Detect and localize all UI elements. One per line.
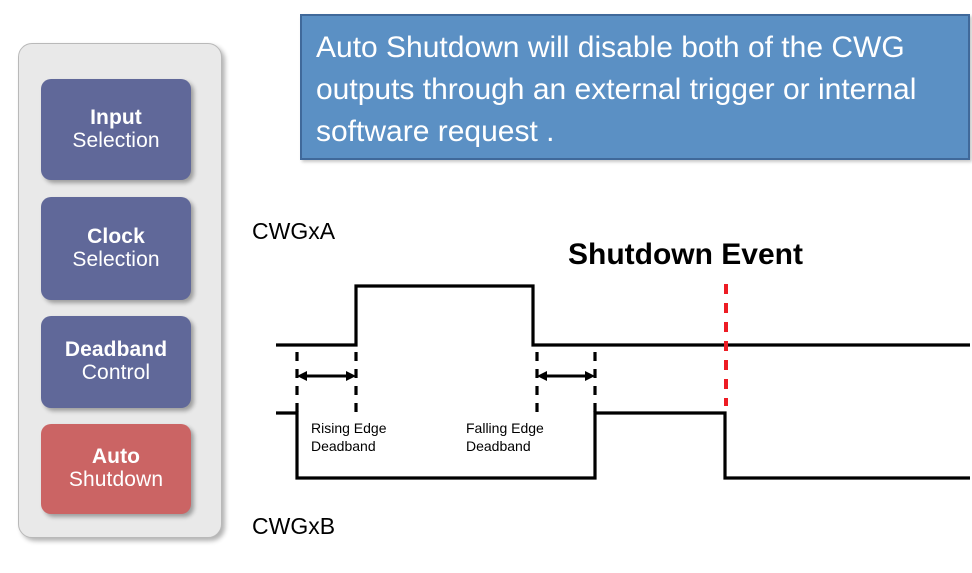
sidebar-item-clock-selection-subtitle: Selection <box>72 249 159 272</box>
rising-edge-deadband-label: Rising Edge Deadband <box>311 420 387 456</box>
sidebar-panel: Input Selection Clock Selection Deadband… <box>18 43 222 538</box>
sidebar-item-clock-selection[interactable]: Clock Selection <box>41 197 191 300</box>
sidebar-item-deadband-control-title: Deadband <box>65 339 167 362</box>
sidebar-item-input-selection[interactable]: Input Selection <box>41 79 191 180</box>
sidebar-item-auto-shutdown-subtitle: Shutdown <box>69 469 163 492</box>
rising-edge-deadband-label-line2: Deadband <box>311 438 387 456</box>
sidebar-item-input-selection-subtitle: Selection <box>72 130 159 153</box>
falling-edge-deadband-label: Falling Edge Deadband <box>466 420 544 456</box>
sidebar-item-input-selection-title: Input <box>90 107 142 130</box>
label-cwgxa: CWGxA <box>252 218 335 245</box>
sidebar-item-clock-selection-title: Clock <box>87 226 145 249</box>
sidebar-item-deadband-control-subtitle: Control <box>82 362 150 385</box>
sidebar-item-deadband-control[interactable]: Deadband Control <box>41 316 191 408</box>
slide-root: Input Selection Clock Selection Deadband… <box>0 0 972 573</box>
trace-cwgxa <box>276 286 970 345</box>
deadband-fall-arrow <box>537 371 595 381</box>
falling-edge-deadband-label-line1: Falling Edge <box>466 420 544 438</box>
sidebar-item-auto-shutdown[interactable]: Auto Shutdown <box>41 424 191 514</box>
falling-edge-deadband-label-line2: Deadband <box>466 438 544 456</box>
sidebar-item-auto-shutdown-title: Auto <box>92 446 140 469</box>
rising-edge-deadband-label-line1: Rising Edge <box>311 420 387 438</box>
shutdown-event-title: Shutdown Event <box>568 238 803 272</box>
label-cwgxb: CWGxB <box>252 513 335 540</box>
callout-banner: Auto Shutdown will disable both of the C… <box>300 14 970 160</box>
callout-banner-text: Auto Shutdown will disable both of the C… <box>316 31 916 148</box>
deadband-rise-arrow <box>297 371 356 381</box>
